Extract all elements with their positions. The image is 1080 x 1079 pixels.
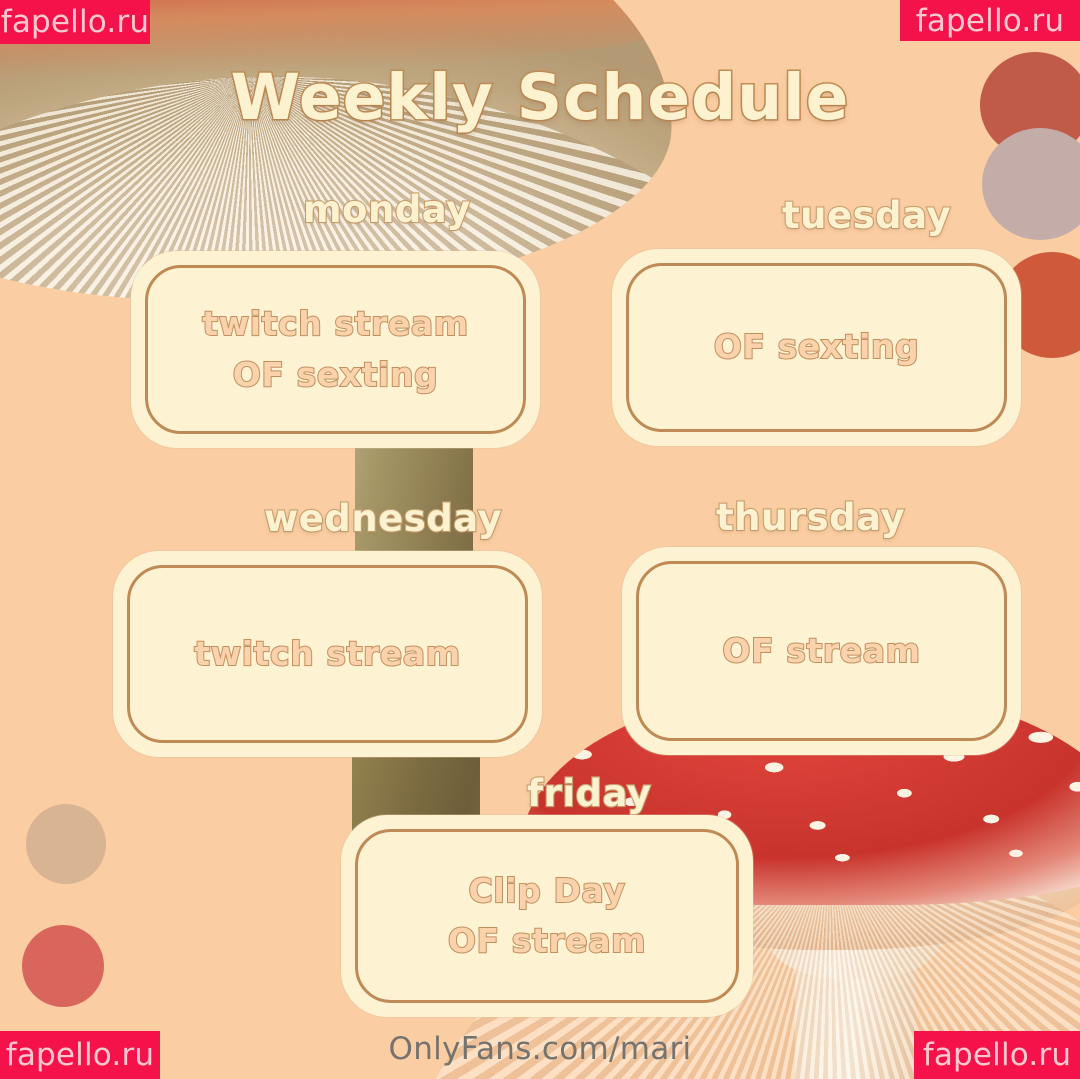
card-line: OF stream [448, 916, 646, 966]
page-title: Weekly Schedule [0, 66, 1080, 129]
day-label-wednesday: wednesday [264, 500, 502, 537]
schedule-card-thursday: OF stream [622, 547, 1021, 755]
card-line: OF sexting [714, 322, 920, 372]
card-line: OF stream [722, 626, 920, 676]
card-line: Clip Day [469, 866, 626, 916]
watermark-top-left: fapello.ru [0, 0, 150, 44]
card-inner-border: twitch stream OF sexting [145, 265, 526, 434]
schedule-card-friday: Clip Day OF stream [341, 815, 753, 1017]
circle-right-mauve [982, 128, 1080, 240]
card-inner-border: Clip Day OF stream [355, 829, 739, 1003]
card-line: twitch stream [194, 629, 460, 679]
day-label-tuesday: tuesday [782, 197, 951, 234]
schedule-card-monday: twitch stream OF sexting [131, 251, 540, 448]
card-line: OF sexting [233, 350, 439, 400]
day-label-monday: monday [303, 191, 471, 228]
watermark-bottom-left: fapello.ru [0, 1031, 160, 1079]
weekly-schedule-poster: Weekly Schedule monday tuesday wednesday… [0, 0, 1080, 1079]
card-inner-border: OF sexting [626, 263, 1007, 432]
card-inner-border: OF stream [636, 561, 1007, 741]
card-line: twitch stream [202, 299, 468, 349]
watermark-bottom-right: fapello.ru [914, 1031, 1080, 1079]
card-inner-border: twitch stream [127, 565, 528, 743]
circle-left-tan [26, 804, 106, 884]
schedule-card-wednesday: twitch stream [113, 551, 542, 757]
day-label-friday: friday [527, 775, 651, 812]
day-label-thursday: thursday [716, 499, 905, 536]
circle-left-salmon [22, 925, 104, 1007]
watermark-top-right: fapello.ru [900, 0, 1080, 41]
schedule-card-tuesday: OF sexting [612, 249, 1021, 446]
